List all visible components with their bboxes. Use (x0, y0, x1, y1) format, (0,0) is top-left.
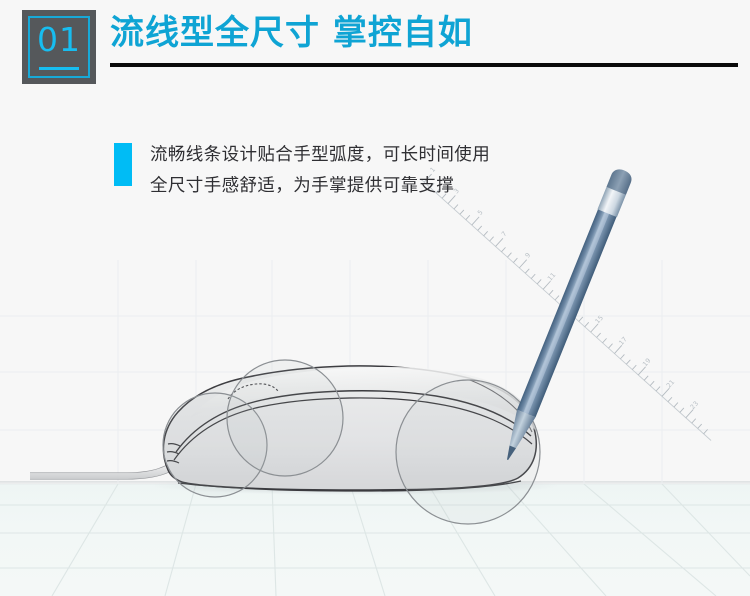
perspective-grid-floor (0, 484, 750, 596)
page-title: 流线型全尺寸 掌控自如 (110, 8, 473, 58)
svg-text:11: 11 (546, 271, 557, 283)
svg-text:7: 7 (500, 230, 509, 238)
construction-circle-rear (396, 380, 540, 524)
construction-circle-wheel (227, 360, 343, 476)
svg-text:5: 5 (476, 208, 485, 216)
slide-header: 01 流线型全尺寸 掌控自如 (0, 0, 750, 100)
title-divider (110, 63, 738, 67)
copy-line-2: 全尺寸手感舒适，为手掌提供可靠支撑 (150, 171, 580, 202)
svg-text:17: 17 (617, 335, 628, 347)
svg-text:19: 19 (641, 357, 652, 369)
copy-line-1: 流畅线条设计贴合手型弧度，可长时间使用 (150, 140, 580, 171)
svg-text:21: 21 (665, 378, 676, 390)
pencil (498, 167, 634, 464)
svg-text:23: 23 (689, 400, 700, 412)
svg-text:9: 9 (524, 251, 533, 259)
product-feature-slide: 1 3 5 7 9 11 13 15 17 19 21 23 (0, 0, 750, 596)
badge-underline (39, 67, 79, 70)
step-number-badge: 01 (22, 10, 96, 84)
copy-text-group: 流畅线条设计贴合手型弧度，可长时间使用 全尺寸手感舒适，为手掌提供可靠支撑 (150, 140, 580, 202)
badge-number: 01 (22, 22, 96, 58)
pencil-highlight (524, 210, 610, 414)
copy-accent-bar (114, 143, 132, 186)
